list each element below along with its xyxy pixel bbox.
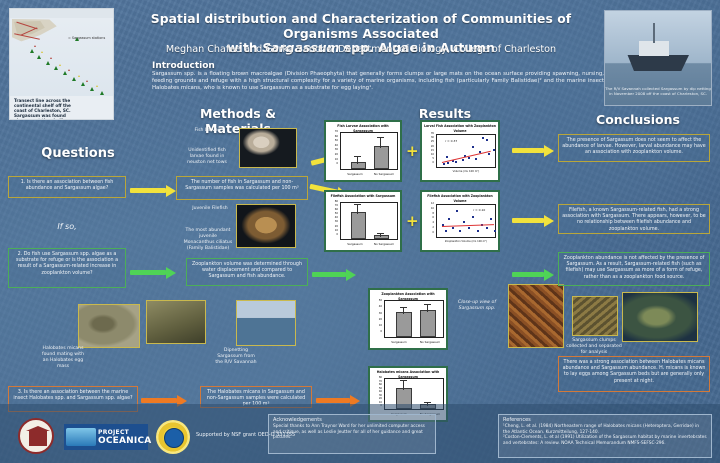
question-2-box[interactable]: 2. Do fish use Sargassum spp. algae as a… <box>8 248 126 288</box>
conclusion-1-box[interactable]: The presence of Sargassum does not seem … <box>558 134 710 162</box>
section-heading-conclusions: Conclusions <box>578 112 698 127</box>
question-1-text: 1. Is there an association between fish … <box>21 180 114 191</box>
errorcap-sargassum <box>354 204 361 205</box>
errorbar-no-sargassum <box>380 234 381 237</box>
project-oceanica-line1: PROJECT <box>98 429 129 436</box>
plus-sign-larvae: + <box>406 142 419 160</box>
xlabel-sargassum: Sargassum <box>342 172 368 176</box>
errorbar-no-sargassum <box>380 138 381 148</box>
chart-larvae-bar-yticks: 706050403020100 <box>326 130 338 167</box>
bar-sargassum <box>396 312 412 337</box>
scatter-point <box>452 227 454 229</box>
scatter-point <box>447 162 449 164</box>
introduction-text: Sargassum spp. is a floating brown macro… <box>152 71 604 93</box>
photo-boat-cabin <box>639 41 669 56</box>
bar-sargassum <box>351 212 366 239</box>
photo-sargassum-sample <box>572 296 618 336</box>
chart-filefish-bar: Filefish Association with Sargassum 8070… <box>324 190 402 252</box>
chart-filefish-bar-yticks: 80706050403020100 <box>326 200 338 237</box>
question-3-text: 3. Is there an association between the m… <box>13 390 132 401</box>
errorbar-sargassum <box>357 157 358 164</box>
title-line-1: Spatial distribution and Characterizatio… <box>151 12 572 41</box>
question-2-text: 2. Do fish use Sargassum spp. algae as a… <box>16 252 118 276</box>
photo-halobates <box>78 304 140 348</box>
plus-sign-filefish: + <box>406 212 419 230</box>
caption-fish-larvae: Unidentified fish larvae found in neusto… <box>183 148 231 166</box>
authors-line: Meghan Chafee and Gorka Sancho, Departme… <box>118 44 604 55</box>
map-caption: Transect line across the continental she… <box>14 98 72 120</box>
caption-juvenile-filefish: The most abundant juvenile Monacanthus c… <box>183 228 233 252</box>
scatter-point <box>477 230 479 232</box>
photo-halobates-pair <box>146 300 206 344</box>
conclusion-4-box[interactable]: There was a strong association between H… <box>558 356 710 392</box>
errorbar-no-sargassum <box>427 305 428 312</box>
chart-filefish-scatter-yticks: 121086420 <box>422 202 434 236</box>
scatter-point <box>488 153 490 155</box>
poster-canvas: Spatial distribution and Characterizatio… <box>0 0 720 463</box>
errorcap-no-sargassum <box>424 304 431 305</box>
chart-larvae-bar: Fish Larvae Association with Sargassum 7… <box>324 120 402 182</box>
conclusion-2-box[interactable]: Filefish, a known Sargassum-related fish… <box>558 204 710 234</box>
scatter-point <box>445 230 447 232</box>
chart-larvae-scatter-xlabel: Volume (mL 100 m³) <box>436 170 496 173</box>
bar-sargassum <box>351 162 366 169</box>
trendline <box>442 151 491 163</box>
methods-box-2[interactable]: Zooplankton volume was determined throug… <box>186 258 308 286</box>
scatter-point <box>472 146 474 148</box>
chart-filefish-scatter: Filefish Association with Zooplankton Vo… <box>420 190 500 252</box>
conclusion-4-text: There was a strong association between H… <box>563 360 706 384</box>
study-area-map: = Sargassum stations Transect line acros… <box>9 8 114 120</box>
section-heading-introduction: Introduction <box>152 61 215 71</box>
xlabel-sargassum: Sargassum <box>342 242 368 246</box>
errorbar-sargassum <box>403 381 404 390</box>
wave-icon <box>66 428 96 446</box>
scatter-point <box>482 137 484 139</box>
caption-dipnetting: Dipnetting Sargassum from the R/V Savann… <box>213 348 259 366</box>
chart-filefish-bar-title: Filefish Association with Sargassum <box>328 194 398 199</box>
chart-filefish-scatter-title: Filefish Association with Zooplankton Vo… <box>424 194 496 203</box>
scatter-point <box>459 230 461 232</box>
scatter-point <box>446 156 448 158</box>
chart-larvae-scatter: Larval Fish Association with Zooplankton… <box>420 120 500 182</box>
scatter-point <box>475 158 477 160</box>
scatter-point <box>486 139 488 141</box>
scatter-point <box>463 221 465 223</box>
acknowledgements-heading: Acknowledgements <box>273 417 431 423</box>
photo-juvenile-filefish <box>236 204 296 248</box>
bar-no-sargassum <box>374 235 389 239</box>
photo-dipnetting <box>236 300 296 346</box>
errorcap-no-sargassum <box>377 233 384 234</box>
label-sargassum-closeup-l2: Sargassum spp. <box>459 306 496 311</box>
project-oceanica-line2: OCEANICA <box>98 436 151 446</box>
errorcap-no-sargassum <box>377 137 384 138</box>
scatter-point <box>493 149 495 151</box>
errorcap-sargassum <box>400 380 407 381</box>
scatter-point <box>456 210 458 212</box>
scatter-point <box>443 163 445 165</box>
map-legend-label: = Sargassum stations <box>68 36 105 40</box>
conclusion-3-box[interactable]: Zooplankton abundance is not affected by… <box>558 252 710 286</box>
conclusion-2-text: Filefish, a known Sargassum-related fish… <box>562 208 706 232</box>
methods-box-2-text: Zooplankton volume was determined throug… <box>192 262 302 279</box>
acknowledgements-card: Acknowledgements Special thanks to Ann T… <box>268 414 436 454</box>
chart-filefish-scatter-xlabel: Zooplankton Volume (mL 100 m³) <box>436 240 496 243</box>
chart-larvae-scatter-yticks: 35302520151050 <box>422 132 434 166</box>
bar-no-sargassum <box>374 146 389 169</box>
errorbar-sargassum <box>357 205 358 214</box>
xlabel-no-sargassum: No Sargassum <box>370 242 398 246</box>
scatter-point <box>468 157 470 159</box>
bar-no-sargassum <box>420 310 436 337</box>
methods-box-1-text: The number of fish in Sargassum and non-… <box>185 180 298 191</box>
scatter-point <box>448 218 450 220</box>
photo-boat-mast <box>653 23 655 43</box>
label-fish-larvae: Fish Larvae <box>185 128 230 134</box>
caption-halobates: Halobates micans found mating with an Ha… <box>40 346 86 370</box>
reference-1: ¹Cheng, L. et al. (1984) Northeastern ra… <box>503 424 707 435</box>
xlabel-no-sargassum: No Sargassum <box>416 340 444 344</box>
acknowledgements-text: Special thanks to Ann Traynor Ward for h… <box>273 424 431 441</box>
section-heading-results: Results <box>385 106 505 121</box>
nsf-logo <box>156 420 190 454</box>
chart-halobates-bar-yticks: 80706050403020100 <box>370 376 382 408</box>
question-1-box[interactable]: 1. Is there an association between fish … <box>8 176 126 198</box>
scatter-point <box>486 227 488 229</box>
chart-larvae-scatter-title: Larval Fish Association with Zooplankton… <box>424 124 496 133</box>
chart-zooplankton-bar-yticks: 50403020100 <box>370 298 382 336</box>
errorcap-sargassum <box>354 156 361 157</box>
scatter-point <box>494 230 496 232</box>
if-so-label: If so, <box>8 222 126 231</box>
methods-box-1[interactable]: The number of fish in Sargassum and non-… <box>176 176 308 200</box>
conclusion-3-text: Zooplankton abundance is not affected by… <box>564 256 705 280</box>
xlabel-no-sargassum: No Sargassum <box>370 172 398 176</box>
correlation-annotation: r = 0.10 <box>473 208 485 212</box>
errorbar-sargassum <box>403 308 404 314</box>
college-of-charleston-logo <box>18 418 54 454</box>
correlation-annotation: r = 0.37 <box>445 139 457 143</box>
label-sargassum-closeup: Close-up view of Sargassum spp. <box>452 300 502 312</box>
section-heading-questions: Questions <box>18 146 138 161</box>
errorcap-no-sargassum <box>424 402 431 403</box>
errorcap-sargassum <box>400 307 407 308</box>
globe-icon <box>164 428 184 448</box>
logo-building-shape <box>29 430 47 446</box>
chart-zooplankton-bar: Zooplankton Association with Sargassum 5… <box>368 288 448 350</box>
references-heading: References <box>503 417 707 423</box>
photo-halobates-macro <box>622 292 698 342</box>
label-juvenile-filefish: Juvenile Filefish <box>186 206 234 212</box>
photo-boat-hull <box>625 55 689 71</box>
label-sargassum-closeup-l1: Close-up view of <box>458 300 496 305</box>
scatter-point <box>468 227 470 229</box>
scatter-point <box>462 159 464 161</box>
xlabel-sargassum: Sargassum <box>386 340 412 344</box>
scatter-point <box>490 218 492 220</box>
references-card: References ¹Cheng, L. et al. (1984) Nort… <box>498 414 712 458</box>
photo-fish-larvae <box>239 128 297 168</box>
conclusion-1-text: The presence of Sargassum does not seem … <box>562 138 705 155</box>
scatter-point <box>472 216 474 218</box>
reference-2: ²Coston-Clements, L. et al (1991) Utiliz… <box>503 435 707 446</box>
scatter-point <box>455 161 457 163</box>
project-oceanica-logo: PROJECT OCEANICA <box>64 424 148 450</box>
caption-sargassum: Sargassum clumps collected and separated… <box>566 338 622 356</box>
research-vessel-caption: The R/V Savannah collected Sargassum by … <box>604 86 712 96</box>
photo-sargassum-closeup <box>508 284 564 348</box>
